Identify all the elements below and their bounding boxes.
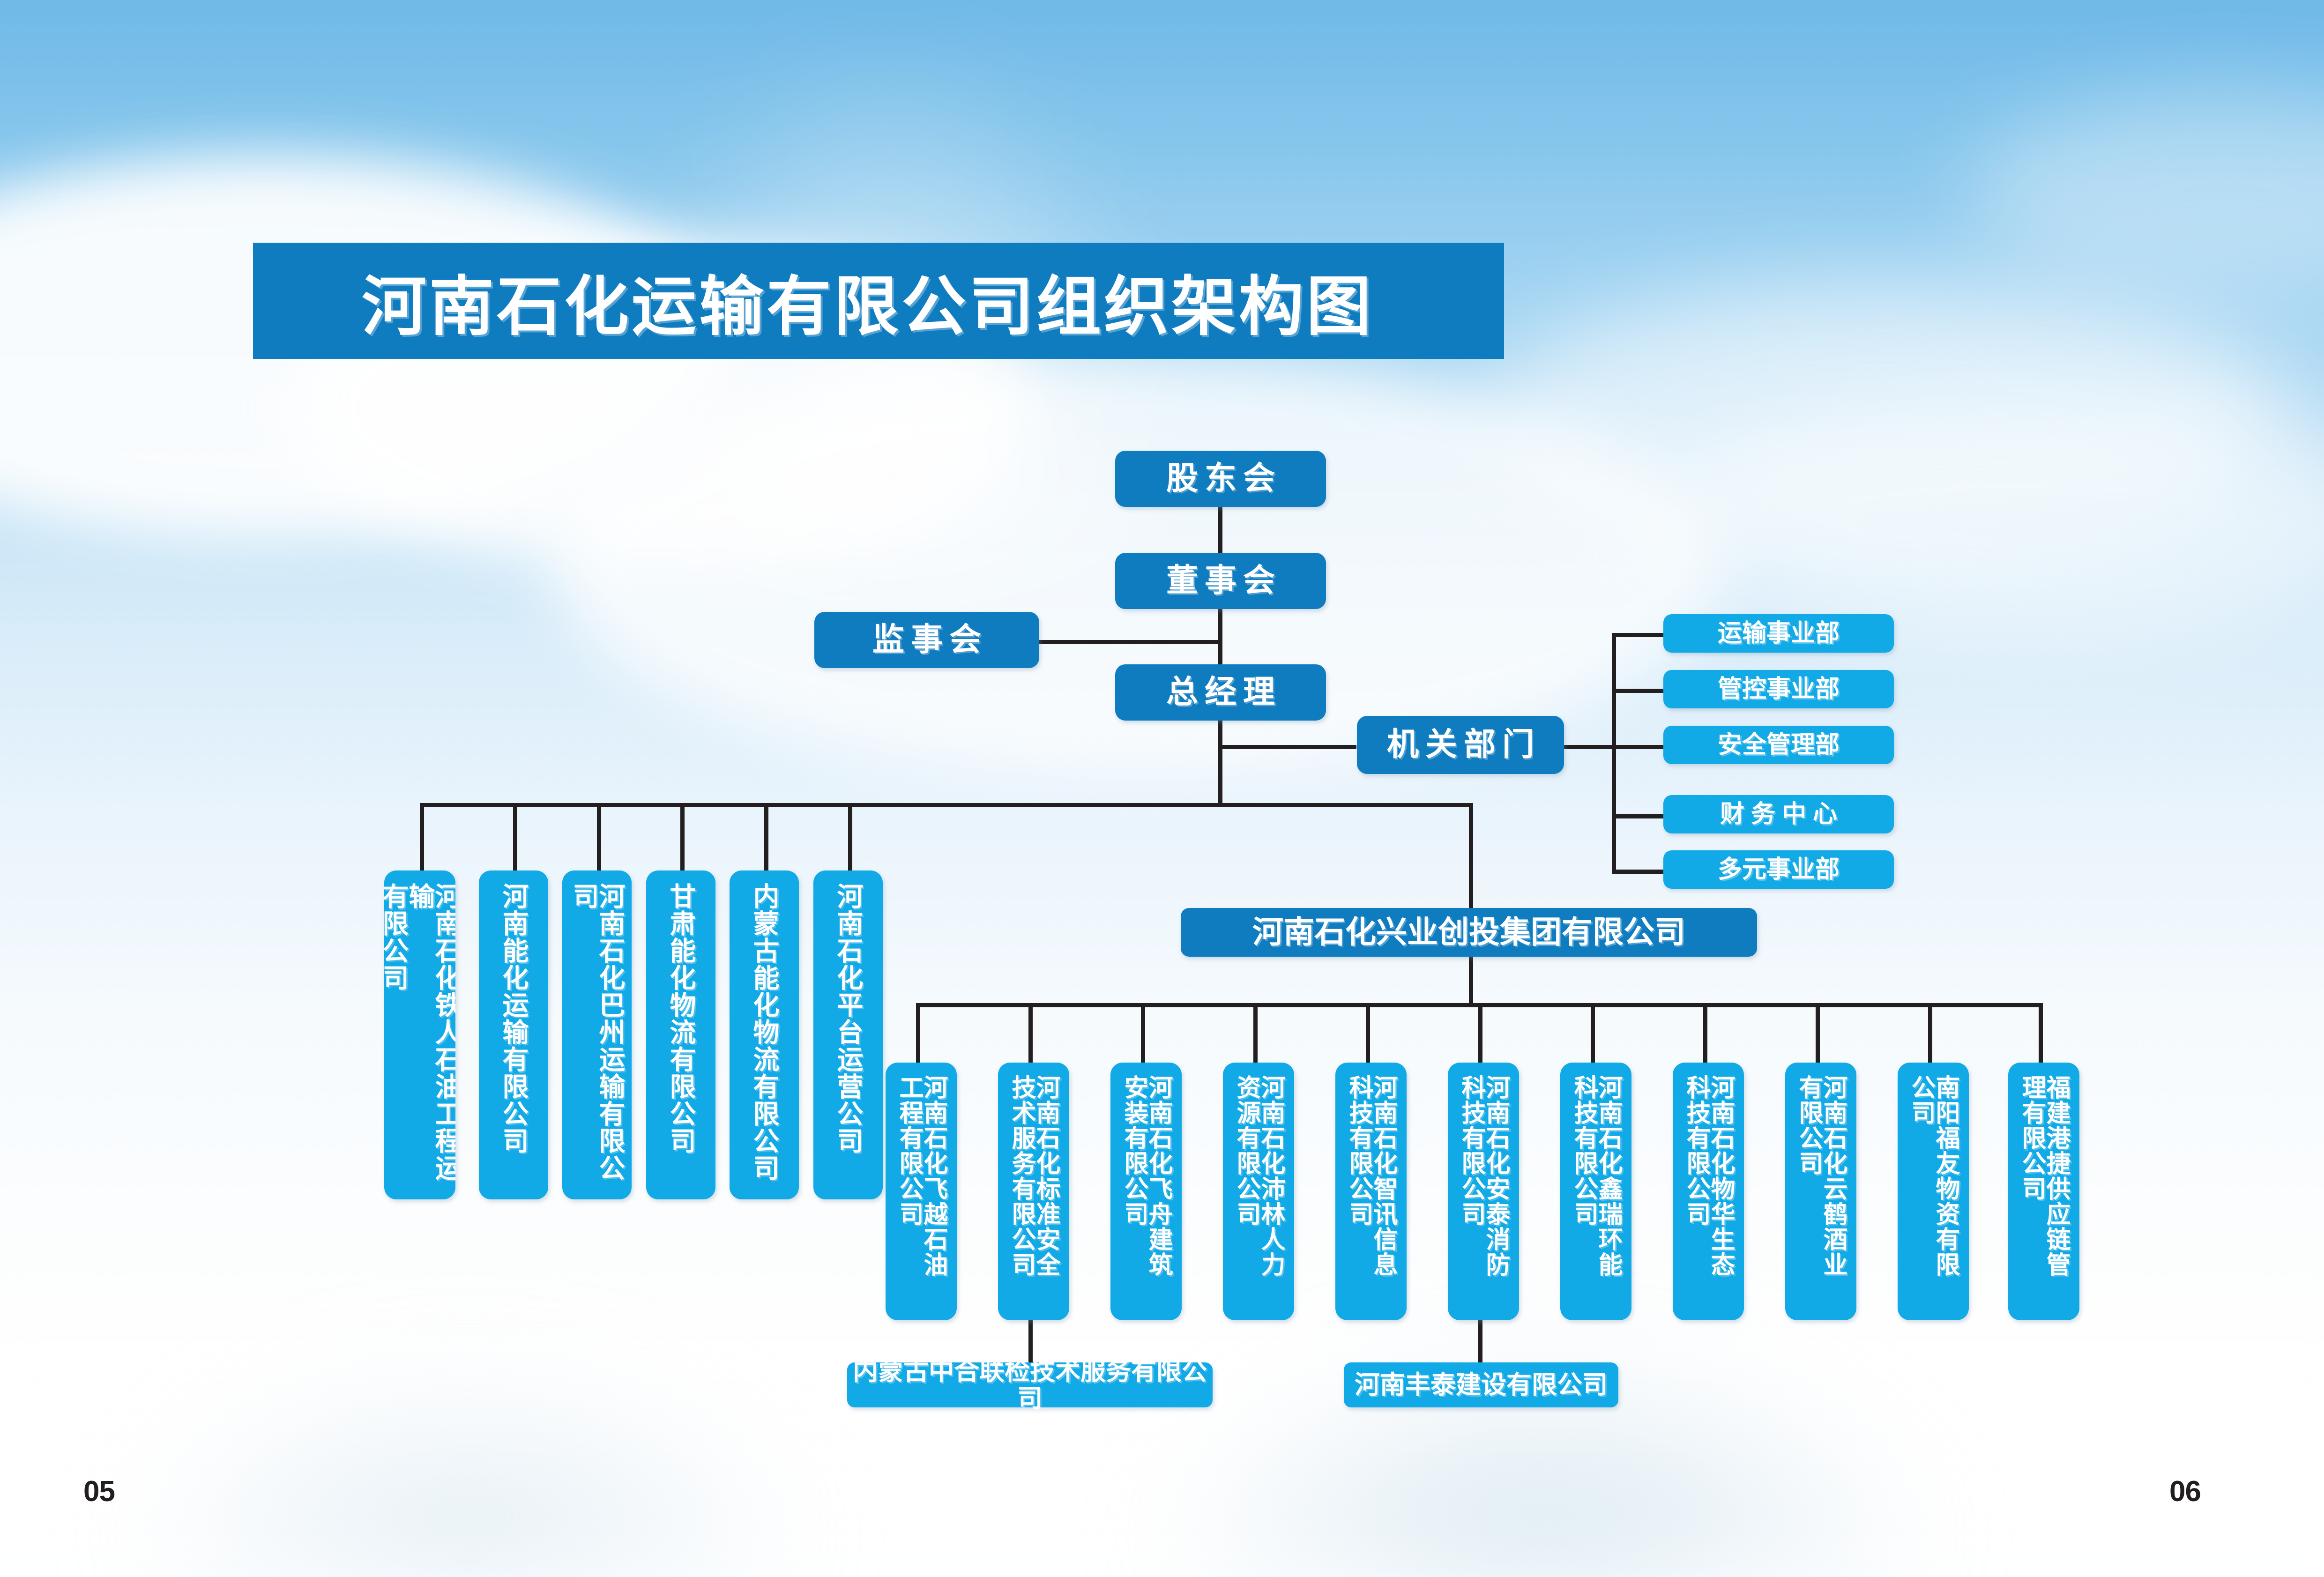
node-investment-group[interactable]: 河南石化兴业创投集团有限公司 <box>1181 908 1757 957</box>
node-label: 河南石化巴州运输有限公司 <box>571 883 623 1199</box>
node-label: 机关部门 <box>1357 728 1564 762</box>
connector-main-bus <box>420 803 1473 807</box>
connector-gm-down <box>1218 707 1222 807</box>
node-label: 安全管理部 <box>1663 732 1894 758</box>
connector-g-1 <box>916 1003 920 1063</box>
node-label: 董事会 <box>1115 564 1326 598</box>
connector-g-9 <box>1816 1003 1820 1063</box>
connector-sub-2 <box>513 803 517 871</box>
connector-g-10 <box>1928 1003 1932 1063</box>
node-dept-control[interactable]: 管控事业部 <box>1663 670 1894 708</box>
node-subsidiary-3[interactable]: 河南石化巴州运输有限公司 <box>562 870 632 1199</box>
node-dept-transport[interactable]: 运输事业部 <box>1663 614 1894 653</box>
page-title: 河南石化运输有限公司组织架构图 <box>362 254 1374 348</box>
mountain-silhouette <box>117 1359 820 1577</box>
connector-dept-4 <box>1612 814 1663 818</box>
node-label: 河南石化沛林人力 资源有限公司 <box>1234 1075 1283 1277</box>
node-board[interactable]: 董事会 <box>1115 553 1326 609</box>
node-subsidiary-6[interactable]: 河南石化平台运营公司 <box>813 870 883 1199</box>
node-label: 财务中心 <box>1663 801 1894 827</box>
node-supervisors[interactable]: 监事会 <box>814 612 1039 668</box>
node-group-subsidiary-7[interactable]: 河南石化鑫瑞环能 科技有限公司 <box>1560 1063 1631 1320</box>
node-leaf-1[interactable]: 内蒙古中合联检技术服务有限公司 <box>847 1362 1213 1407</box>
node-leaf-2[interactable]: 河南丰泰建设有限公司 <box>1344 1362 1618 1407</box>
connector-sub-4 <box>680 803 685 871</box>
node-group-subsidiary-9[interactable]: 河南石化云鹤酒业 有限公司 <box>1785 1063 1856 1320</box>
node-label: 河南丰泰建设有限公司 <box>1344 1371 1618 1398</box>
node-subsidiary-5[interactable]: 内蒙古能化物流有限公司 <box>730 870 799 1199</box>
connector-supervisors-spine <box>1039 640 1222 644</box>
node-label: 河南石化标准安全 技术服务有限公司 <box>1009 1075 1058 1277</box>
connector-g-3 <box>1141 1003 1145 1063</box>
connector-sub-1 <box>420 803 424 871</box>
connector-g-6 <box>1478 1003 1482 1063</box>
node-label: 管控事业部 <box>1663 676 1894 702</box>
connector-dept-5 <box>1612 870 1663 874</box>
node-group-subsidiary-3[interactable]: 河南石化飞舟建筑 安装有限公司 <box>1110 1063 1182 1320</box>
poster-canvas: 河南石化运输有限公司组织架构图 股东会 董事会 <box>0 0 2324 1577</box>
connector-group-down <box>1469 957 1473 1006</box>
node-dept-safety[interactable]: 安全管理部 <box>1663 726 1894 764</box>
connector-dept-3 <box>1612 745 1663 749</box>
node-group-subsidiary-1[interactable]: 河南石化飞越石油 工程有限公司 <box>886 1063 957 1320</box>
node-general-manager[interactable]: 总经理 <box>1115 664 1326 721</box>
page-title-band: 河南石化运输有限公司组织架构图 <box>253 243 1504 359</box>
node-label: 河南石化云鹤酒业 有限公司 <box>1796 1075 1845 1277</box>
node-label: 内蒙古能化物流有限公司 <box>751 883 777 1182</box>
node-label: 福建港捷供应链管 理有限公司 <box>2019 1075 2068 1277</box>
node-group-subsidiary-6[interactable]: 河南石化安泰消防 科技有限公司 <box>1448 1063 1519 1320</box>
node-subsidiary-2[interactable]: 河南能化运输有限公司 <box>479 870 548 1199</box>
node-group-subsidiary-2[interactable]: 河南石化标准安全 技术服务有限公司 <box>998 1063 1069 1320</box>
node-label: 股东会 <box>1115 461 1326 496</box>
node-label: 南阳福友物资有限 公司 <box>1909 1075 1958 1277</box>
node-group-subsidiary-11[interactable]: 福建港捷供应链管 理有限公司 <box>2008 1063 2079 1320</box>
connector-sub-6 <box>848 803 852 871</box>
node-label: 河南石化鑫瑞环能 科技有限公司 <box>1572 1075 1620 1277</box>
connector-sub-5 <box>764 803 768 871</box>
node-label: 河南石化飞越石油 工程有限公司 <box>897 1075 946 1277</box>
node-label: 总经理 <box>1115 675 1326 709</box>
node-label: 河南石化安泰消防 科技有限公司 <box>1459 1075 1508 1277</box>
connector-sub-3 <box>597 803 601 871</box>
node-label: 河南石化飞舟建筑 安装有限公司 <box>1122 1075 1170 1277</box>
connector-dept-1 <box>1612 633 1663 637</box>
node-agency-department[interactable]: 机关部门 <box>1357 716 1564 774</box>
connector-departments-spine <box>1612 633 1616 872</box>
node-label: 河南石化智讯信息 科技有限公司 <box>1347 1075 1395 1277</box>
node-dept-diverse[interactable]: 多元事业部 <box>1663 850 1894 889</box>
node-group-subsidiary-10[interactable]: 南阳福友物资有限 公司 <box>1898 1063 1969 1320</box>
connector-g-11 <box>2039 1003 2043 1063</box>
node-shareholders[interactable]: 股东会 <box>1115 451 1326 507</box>
node-label: 监事会 <box>814 623 1039 657</box>
node-subsidiary-1[interactable]: 河南石化铁人石油工程运输 有限公司 <box>384 870 455 1199</box>
node-label: 河南能化运输有限公司 <box>500 883 527 1154</box>
connector-g-8 <box>1703 1003 1707 1063</box>
node-group-subsidiary-8[interactable]: 河南石化物华生态 科技有限公司 <box>1673 1063 1744 1320</box>
connector-dept-2 <box>1612 689 1663 693</box>
connector-g-4 <box>1253 1003 1258 1063</box>
node-group-subsidiary-5[interactable]: 河南石化智讯信息 科技有限公司 <box>1335 1063 1407 1320</box>
connector-gm-agency <box>1218 745 1356 749</box>
node-label: 内蒙古中合联检技术服务有限公司 <box>847 1358 1213 1413</box>
page-number-right: 06 <box>2169 1475 2201 1508</box>
page-number-left: 05 <box>83 1475 115 1508</box>
node-label: 河南石化铁人石油工程运输 有限公司 <box>384 883 455 1199</box>
node-label: 多元事业部 <box>1663 856 1894 883</box>
connector-board-gm <box>1218 608 1222 665</box>
node-subsidiary-4[interactable]: 甘肃能化物流有限公司 <box>646 870 715 1199</box>
connector-agency-bus <box>1564 745 1616 749</box>
node-group-subsidiary-4[interactable]: 河南石化沛林人力 资源有限公司 <box>1223 1063 1294 1320</box>
node-label: 河南石化兴业创投集团有限公司 <box>1181 915 1757 949</box>
connector-g-2 <box>1028 1003 1033 1063</box>
node-label: 运输事业部 <box>1663 620 1894 647</box>
connector-g-7 <box>1591 1003 1595 1063</box>
node-dept-finance[interactable]: 财务中心 <box>1663 795 1894 833</box>
node-label: 河南石化平台运营公司 <box>835 883 861 1154</box>
connector-g-5 <box>1366 1003 1370 1063</box>
connector-leaf-2 <box>1478 1320 1482 1363</box>
node-label: 河南石化物华生态 科技有限公司 <box>1684 1075 1733 1277</box>
connector-bus-to-group <box>1469 803 1473 908</box>
node-label: 甘肃能化物流有限公司 <box>668 883 694 1154</box>
